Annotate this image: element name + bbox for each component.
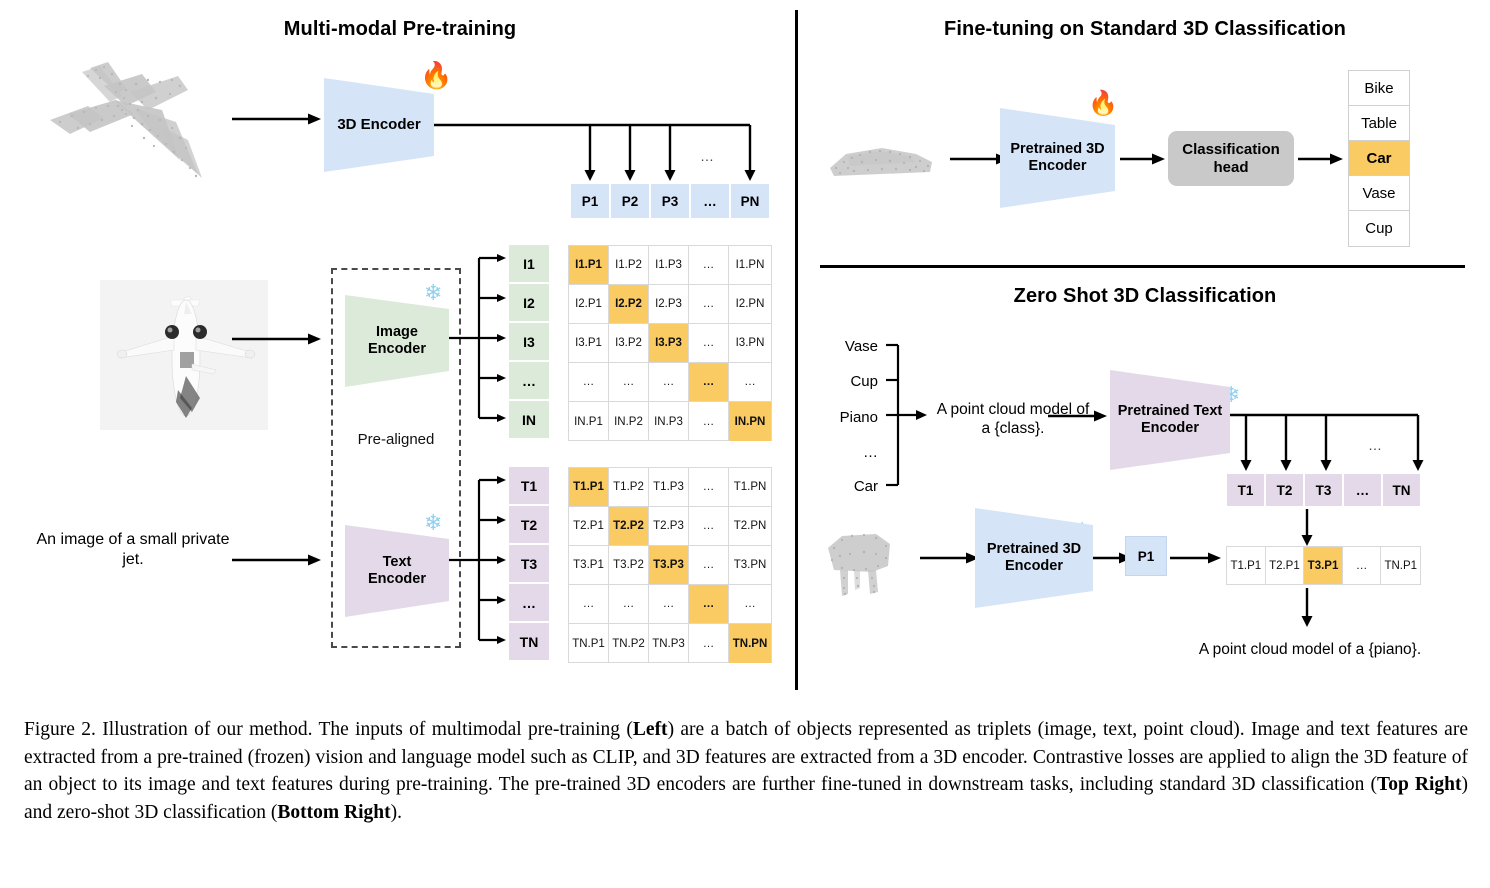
matrix-cell: … bbox=[689, 324, 729, 363]
matrix-cell: T2.P2 bbox=[609, 507, 649, 546]
encoder-line1: Pretrained 3D bbox=[987, 541, 1081, 557]
matrix-row: I1.P1 I1.P2 I1.P3 … I1.PN bbox=[569, 246, 771, 285]
zeroshot-similarity-row: T1.P1 T2.P1 T3.P1 … TN.P1 bbox=[1226, 546, 1421, 585]
matrix-cell: I2.P3 bbox=[649, 285, 689, 324]
airplane-point-cloud bbox=[30, 48, 240, 208]
matrix-cell: … bbox=[609, 585, 649, 624]
input-text-value: An image of a small private jet. bbox=[37, 531, 230, 568]
t-label: TN bbox=[509, 623, 549, 662]
matrix-cell: … bbox=[689, 363, 729, 402]
matrix-cell: T2.P3 bbox=[649, 507, 689, 546]
image-encoder-block[interactable]: Image Encoder bbox=[345, 295, 449, 387]
i-label: IN bbox=[509, 401, 549, 440]
matrix-cell: … bbox=[689, 585, 729, 624]
figure-canvas: Multi-modal Pre-training Fine-tuning on … bbox=[0, 0, 1490, 700]
class-item[interactable]: Vase bbox=[1349, 176, 1409, 211]
encoder-3d-label: 3D Encoder bbox=[337, 116, 420, 134]
input-text-caption: An image of a small private jet. bbox=[28, 530, 238, 570]
encoder-3d-block[interactable]: 3D Encoder bbox=[324, 78, 434, 172]
matrix-cell: I1.P3 bbox=[649, 246, 689, 285]
t-label: T3 bbox=[509, 545, 549, 584]
matrix-cell: TN.P2 bbox=[609, 624, 649, 663]
classification-head-block[interactable]: Classification head bbox=[1168, 131, 1294, 186]
matrix-cell: IN.P1 bbox=[569, 402, 609, 441]
matrix-row: I2.P1 I2.P2 I2.P3 … I2.PN bbox=[569, 285, 771, 324]
matrix-cell: T3.P1 bbox=[569, 546, 609, 585]
panel-title-top-right: Fine-tuning on Standard 3D Classificatio… bbox=[830, 18, 1460, 41]
t-cell: TN bbox=[1382, 473, 1421, 507]
matrix-cell: … bbox=[689, 507, 729, 546]
matrix-cell: T3.P3 bbox=[649, 546, 689, 585]
head-line2: head bbox=[1213, 159, 1248, 176]
sim-cell: … bbox=[1343, 547, 1382, 584]
matrix-cell: … bbox=[689, 468, 729, 507]
t-cell: … bbox=[1343, 473, 1382, 507]
figure-caption: Figure 2. Illustration of our method. Th… bbox=[24, 716, 1468, 827]
i-label: … bbox=[509, 362, 549, 401]
arrow-piano-to-encoder bbox=[920, 551, 980, 565]
sim-cell-selected: T3.P1 bbox=[1304, 547, 1343, 584]
branch-3d-to-p-features bbox=[434, 118, 764, 188]
zeroshot-text-feature-row: T1 T2 T3 … TN bbox=[1226, 473, 1421, 507]
text-feature-label-column: T1 T2 T3 … TN bbox=[509, 467, 549, 662]
matrix-cell: … bbox=[569, 585, 609, 624]
horizontal-panel-divider bbox=[820, 265, 1465, 268]
matrix-cell: I3.P3 bbox=[649, 324, 689, 363]
arrow-t3-to-similarity-row bbox=[1300, 509, 1314, 547]
matrix-cell: I1.P2 bbox=[609, 246, 649, 285]
matrix-cell: T1.P1 bbox=[569, 468, 609, 507]
panel-title-bottom-right: Zero Shot 3D Classification bbox=[830, 285, 1460, 308]
matrix-row: TN.P1 TN.P2 TN.P3 … TN.PN bbox=[569, 624, 771, 663]
text-encoder-block[interactable]: Text Encoder bbox=[345, 525, 449, 617]
class-item-selected[interactable]: Car bbox=[1349, 141, 1409, 176]
matrix-cell: T2.PN bbox=[729, 507, 771, 546]
matrix-cell: I1.P1 bbox=[569, 246, 609, 285]
branch-text-encoder-to-t-labels bbox=[449, 470, 511, 650]
text-encoder-line2: Encoder bbox=[1141, 420, 1199, 436]
matrix-cell: IN.PN bbox=[729, 402, 771, 441]
matrix-cell: … bbox=[689, 402, 729, 441]
matrix-row: IN.P1 IN.P2 IN.P3 … IN.PN bbox=[569, 402, 771, 441]
pretrained-text-encoder-block[interactable]: Pretrained Text Encoder bbox=[1110, 370, 1230, 470]
t-label: T2 bbox=[509, 506, 549, 545]
matrix-cell: … bbox=[689, 246, 729, 285]
matrix-cell: … bbox=[569, 363, 609, 402]
p-cell: … bbox=[690, 183, 730, 219]
sim-cell: T2.P1 bbox=[1266, 547, 1305, 584]
classification-head-label: Classification head bbox=[1182, 141, 1280, 177]
matrix-cell: I3.P1 bbox=[569, 324, 609, 363]
matrix-cell: … bbox=[649, 585, 689, 624]
t-cell: T3 bbox=[1304, 473, 1343, 507]
matrix-row: T2.P1 T2.P2 T2.P3 … T2.PN bbox=[569, 507, 771, 546]
rendered-jet-image bbox=[100, 280, 268, 430]
text-encoder-label: Text Encoder bbox=[368, 554, 426, 588]
p-cell: P1 bbox=[570, 183, 610, 219]
image-feature-label-column: I1 I2 I3 … IN bbox=[509, 245, 549, 440]
image-point-similarity-matrix: I1.P1 I1.P2 I1.P3 … I1.PN I2.P1 I2.P2 I2… bbox=[568, 245, 772, 441]
zeroshot-class-option: … bbox=[812, 444, 878, 461]
car-point-cloud bbox=[820, 128, 940, 188]
matrix-cell: T1.P3 bbox=[649, 468, 689, 507]
text-encoder-line1: Text bbox=[383, 554, 412, 570]
matrix-cell: … bbox=[609, 363, 649, 402]
i-label: I3 bbox=[509, 323, 549, 362]
caption-text: Figure 2. Illustration of our method. Th… bbox=[24, 719, 1468, 823]
i-label: I1 bbox=[509, 245, 549, 284]
matrix-cell: I3.P2 bbox=[609, 324, 649, 363]
matrix-cell: TN.P3 bbox=[649, 624, 689, 663]
matrix-cell: TN.P1 bbox=[569, 624, 609, 663]
encoder-line2: Encoder bbox=[1028, 158, 1086, 174]
matrix-cell: IN.P2 bbox=[609, 402, 649, 441]
arrow-pointcloud-to-3d-encoder bbox=[232, 112, 322, 126]
branch-image-encoder-to-i-labels bbox=[449, 248, 511, 428]
matrix-cell: TN.PN bbox=[729, 624, 771, 663]
matrix-row: … … … … … bbox=[569, 585, 771, 624]
classification-output-list: Bike Table Car Vase Cup bbox=[1348, 70, 1410, 247]
matrix-cell: T2.P1 bbox=[569, 507, 609, 546]
zeroshot-class-option: Cup bbox=[812, 373, 878, 390]
sim-cell: T1.P1 bbox=[1227, 547, 1266, 584]
branch-text-encoder-to-t-row bbox=[1230, 408, 1430, 478]
matrix-row: T3.P1 T3.P2 T3.P3 … T3.PN bbox=[569, 546, 771, 585]
class-item[interactable]: Cup bbox=[1349, 211, 1409, 246]
pretrained-3d-encoder-zeroshot-label: Pretrained 3D Encoder bbox=[987, 541, 1081, 575]
p-cell: P2 bbox=[610, 183, 650, 219]
t-cell: T1 bbox=[1226, 473, 1265, 507]
encoder-line2: Encoder bbox=[1005, 558, 1063, 574]
i-label: I2 bbox=[509, 284, 549, 323]
vertical-panel-divider bbox=[795, 10, 798, 690]
prompt-line2: a {class}. bbox=[982, 420, 1045, 437]
arrow-image-to-image-encoder bbox=[232, 332, 322, 346]
matrix-cell: … bbox=[729, 363, 771, 402]
pretrained-3d-encoder-finetune-block[interactable]: Pretrained 3D Encoder bbox=[1000, 108, 1115, 208]
t-label: T1 bbox=[509, 467, 549, 506]
matrix-cell: T3.P2 bbox=[609, 546, 649, 585]
arrow-similarity-to-result bbox=[1300, 588, 1314, 628]
matrix-cell: T3.PN bbox=[729, 546, 771, 585]
t-label: … bbox=[509, 584, 549, 623]
arrow-text-to-text-encoder bbox=[232, 553, 322, 567]
matrix-cell: … bbox=[689, 546, 729, 585]
encoder-line1: Pretrained 3D bbox=[1010, 141, 1104, 157]
matrix-cell: … bbox=[689, 285, 729, 324]
zeroshot-result-text: A point cloud model of a {piano}. bbox=[1160, 640, 1460, 659]
pretrained-3d-encoder-label: Pretrained 3D Encoder bbox=[1010, 141, 1104, 175]
matrix-cell: T1.PN bbox=[729, 468, 771, 507]
text-encoder-line2: Encoder bbox=[368, 571, 426, 587]
panel-title-left: Multi-modal Pre-training bbox=[150, 18, 650, 41]
t-cell: T2 bbox=[1265, 473, 1304, 507]
matrix-cell: T1.P2 bbox=[609, 468, 649, 507]
class-list-bracket bbox=[884, 340, 928, 490]
pretrained-3d-encoder-zeroshot-block[interactable]: Pretrained 3D Encoder bbox=[975, 508, 1093, 608]
matrix-cell: I3.PN bbox=[729, 324, 771, 363]
matrix-cell: I2.P1 bbox=[569, 285, 609, 324]
matrix-row: T1.P1 T2.P1 T3.P1 … TN.P1 bbox=[1227, 547, 1420, 584]
arrow-p1-to-similarity-row bbox=[1170, 551, 1222, 565]
class-item[interactable]: Table bbox=[1349, 106, 1409, 141]
p-cell: P3 bbox=[650, 183, 690, 219]
text-point-similarity-matrix: T1.P1 T1.P2 T1.P3 … T1.PN T2.P1 T2.P2 T2… bbox=[568, 467, 772, 663]
arrow-head-to-classlist bbox=[1298, 152, 1344, 166]
matrix-cell: I1.PN bbox=[729, 246, 771, 285]
arrow-prompt-to-text-encoder bbox=[1048, 409, 1108, 423]
image-encoder-label: Image Encoder bbox=[368, 324, 426, 358]
class-item[interactable]: Bike bbox=[1349, 71, 1409, 106]
branch-ellipsis-p: … bbox=[700, 148, 714, 164]
image-encoder-line2: Encoder bbox=[368, 341, 426, 357]
image-encoder-line1: Image bbox=[376, 324, 418, 340]
branch-ellipsis-t-row: … bbox=[1368, 437, 1382, 453]
matrix-cell: … bbox=[649, 363, 689, 402]
text-encoder-line1: Pretrained Text bbox=[1118, 403, 1223, 419]
arrow-encoder-to-head bbox=[1120, 152, 1166, 166]
matrix-cell: I2.P2 bbox=[609, 285, 649, 324]
matrix-cell: … bbox=[689, 624, 729, 663]
p-feature-row: P1 P2 P3 … PN bbox=[570, 183, 770, 219]
zeroshot-class-option: Piano bbox=[812, 409, 878, 426]
matrix-row: … … … … … bbox=[569, 363, 771, 402]
p-cell: PN bbox=[730, 183, 770, 219]
zeroshot-class-option: Car bbox=[812, 478, 878, 495]
piano-point-cloud bbox=[820, 520, 910, 605]
matrix-cell: IN.P3 bbox=[649, 402, 689, 441]
matrix-row: I3.P1 I3.P2 I3.P3 … I3.PN bbox=[569, 324, 771, 363]
pretrained-text-encoder-label: Pretrained Text Encoder bbox=[1118, 403, 1223, 437]
pre-aligned-label: Pre-aligned bbox=[331, 431, 461, 448]
matrix-row: T1.P1 T1.P2 T1.P3 … T1.PN bbox=[569, 468, 771, 507]
matrix-cell: I2.PN bbox=[729, 285, 771, 324]
zeroshot-class-option: Vase bbox=[812, 338, 878, 355]
sim-cell: TN.P1 bbox=[1381, 547, 1420, 584]
head-line1: Classification bbox=[1182, 141, 1280, 158]
p1-feature-box: P1 bbox=[1125, 536, 1167, 576]
matrix-cell: … bbox=[729, 585, 771, 624]
